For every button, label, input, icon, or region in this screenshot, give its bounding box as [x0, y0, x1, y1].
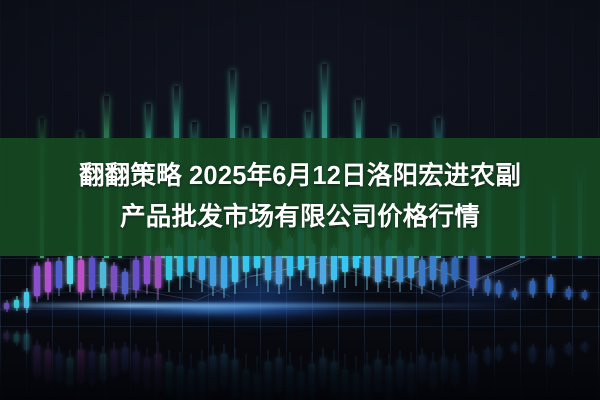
page-title: 翻翻策略 2025年6月12日洛阳宏进农副产品批发市场有限公司价格行情 — [67, 156, 533, 238]
banner-image: 翻翻策略 2025年6月12日洛阳宏进农副产品批发市场有限公司价格行情 — [0, 0, 600, 400]
horizon-light-line — [0, 303, 600, 308]
bottom-fade — [0, 330, 600, 400]
top-fade — [0, 0, 600, 150]
horizon-light-streak — [0, 296, 600, 322]
title-band: 翻翻策略 2025年6月12日洛阳宏进农副产品批发市场有限公司价格行情 — [0, 138, 600, 256]
